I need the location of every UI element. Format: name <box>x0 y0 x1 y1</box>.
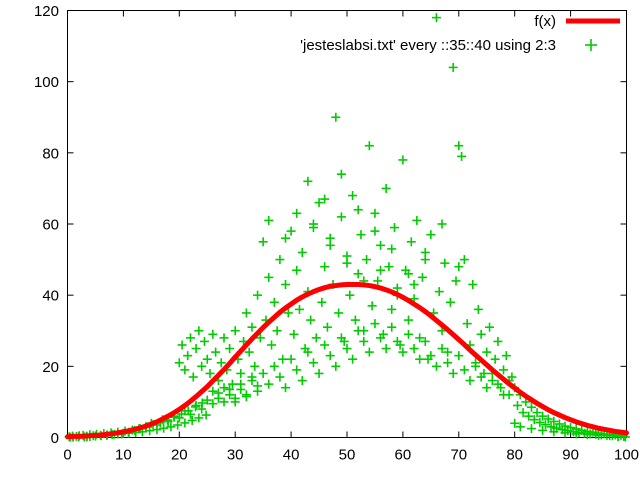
x-tick-label: 40 <box>283 447 300 464</box>
y-tick-label: 20 <box>42 359 59 376</box>
y-tick-label: 40 <box>42 288 59 305</box>
y-tick-label: 120 <box>34 3 59 20</box>
x-tick-label: 20 <box>171 447 188 464</box>
x-tick-label: 0 <box>63 447 71 464</box>
y-tick-label: 60 <box>42 217 59 234</box>
x-tick-label: 30 <box>227 447 244 464</box>
legend-entry-data-label: 'jesteslabsi.txt' every ::35::40 using 2… <box>300 37 556 54</box>
gnuplot-figure: 020406080100120 0102030405060708090100 f… <box>0 0 640 480</box>
x-tick-label: 10 <box>115 447 132 464</box>
x-tick-label: 50 <box>339 447 356 464</box>
y-tick-label: 100 <box>34 74 59 91</box>
x-tick-label: 70 <box>450 447 467 464</box>
chart-canvas: 020406080100120 0102030405060708090100 f… <box>0 0 640 480</box>
legend-entry-fx-label: f(x) <box>534 13 556 30</box>
x-tick-label: 100 <box>614 447 639 464</box>
y-tick-label: 0 <box>51 430 59 447</box>
x-tick-label: 90 <box>562 447 579 464</box>
x-tick-label: 60 <box>395 447 412 464</box>
y-tick-label: 80 <box>42 145 59 162</box>
x-tick-label: 80 <box>506 447 523 464</box>
